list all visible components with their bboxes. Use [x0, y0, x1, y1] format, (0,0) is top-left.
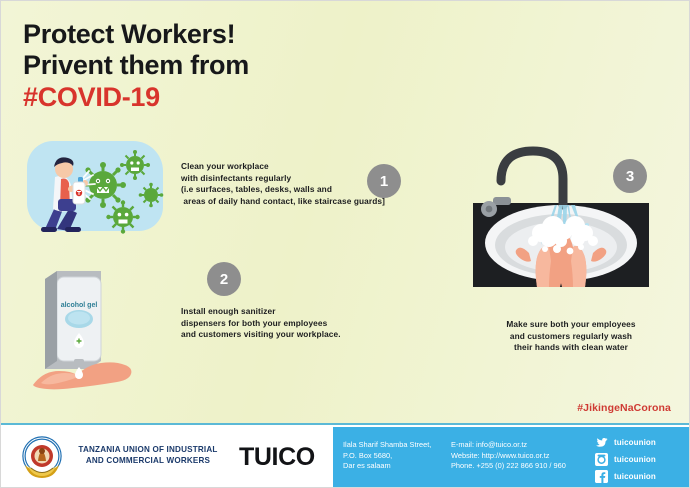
tuico-emblem-icon	[19, 435, 65, 481]
covid-prevention-poster: Protect Workers! Privent them from #COVI…	[0, 0, 690, 488]
social-facebook[interactable]: tuicounion	[595, 469, 656, 484]
social-instagram[interactable]: tuicounion	[595, 452, 656, 467]
social-links: tuicounion tuicounion	[595, 435, 656, 486]
contact-panel: Ilala Sharif Shamba Street, P.O. Box 568…	[333, 427, 690, 488]
step-1-badge: 1	[367, 164, 401, 198]
step-2-badge: 2	[207, 262, 241, 296]
step-3-text: Make sure both your employees and custom…	[461, 319, 681, 354]
campaign-hashtag: #JikingeNaCorona	[577, 402, 671, 414]
handwashing-sink-illustration	[463, 137, 675, 309]
contact-text: E-mail: info@tuico.or.tz Website: http:/…	[451, 440, 566, 472]
address-text: Ilala Sharif Shamba Street, P.O. Box 568…	[343, 440, 431, 472]
footer-bar: TANZANIA UNION OF INDUSTRIAL AND COMMERC…	[1, 427, 690, 488]
handwashing-scene-graphic	[463, 137, 675, 309]
tuico-logo	[19, 435, 65, 481]
svg-text:alcohol gel: alcohol gel	[61, 302, 98, 309]
twitter-handle: tuicounion	[614, 438, 656, 447]
step-3-badge: 3	[613, 159, 647, 193]
headline-line-2: Privent them from	[23, 50, 453, 81]
social-twitter[interactable]: tuicounion	[595, 435, 656, 450]
headline-line-1: Protect Workers!	[23, 19, 453, 50]
instagram-icon	[595, 453, 608, 466]
sanitizer-dispenser-graphic: alcohol gel	[27, 263, 149, 395]
twitter-icon	[595, 436, 608, 449]
wall-sanitizer-dispenser-illustration: alcohol gel	[27, 263, 149, 395]
person-spraying-disinfectant-illustration	[25, 137, 167, 235]
headline-line-3: #COVID-19	[23, 81, 453, 114]
tuico-wordmark: TUICO	[239, 443, 315, 472]
facebook-handle: tuicounion	[614, 472, 656, 481]
page-title: Protect Workers! Privent them from #COVI…	[23, 19, 453, 114]
poster-body: Protect Workers! Privent them from #COVI…	[1, 1, 690, 425]
step-2-text: Install enough sanitizer dispensers for …	[181, 306, 421, 341]
instagram-handle: tuicounion	[614, 455, 656, 464]
facebook-icon	[595, 470, 608, 483]
organization-name: TANZANIA UNION OF INDUSTRIAL AND COMMERC…	[73, 444, 223, 466]
spray-scene-graphic	[25, 137, 167, 235]
